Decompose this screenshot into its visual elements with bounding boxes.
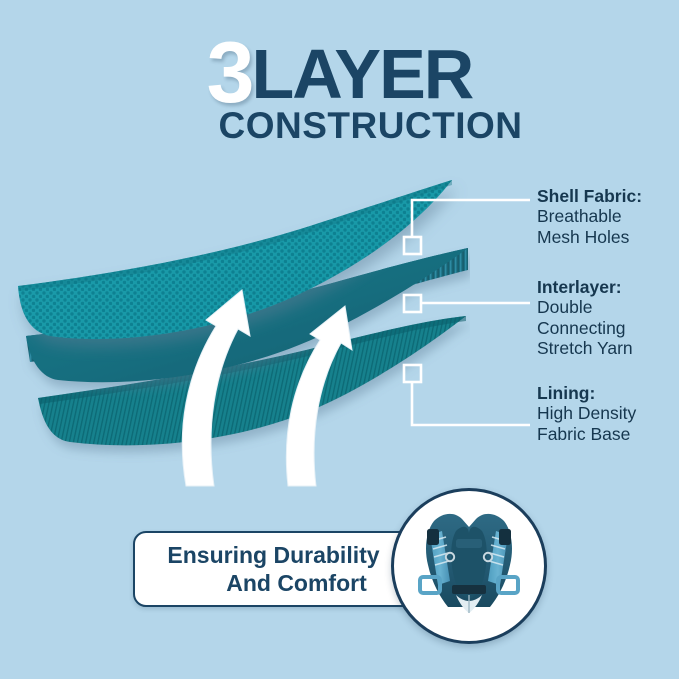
layer-stack-illustration: [0, 130, 470, 490]
product-photo-circle: [391, 488, 547, 644]
dog-harness-icon: [394, 491, 544, 641]
callout-shell-line2: Mesh Holes: [537, 227, 642, 247]
page-title: 3 LAYER CONSTRUCTION: [0, 32, 679, 144]
callout-interlayer: Interlayer: Double Connecting Stretch Ya…: [537, 277, 633, 358]
tagline-line1: Ensuring Durability: [167, 542, 379, 568]
title-main-row: 3 LAYER: [0, 32, 679, 111]
callout-interlayer-line2: Connecting: [537, 318, 633, 338]
callout-interlayer-line3: Stretch Yarn: [537, 338, 633, 358]
callout-shell-line1: Breathable: [537, 206, 642, 226]
callout-shell-fabric: Shell Fabric: Breathable Mesh Holes: [537, 186, 642, 247]
callout-lining: Lining: High Density Fabric Base: [537, 383, 636, 444]
callout-shell-title: Shell Fabric:: [537, 186, 642, 206]
callout-lining-title: Lining:: [537, 383, 636, 403]
tagline-line2: And Comfort: [167, 569, 379, 597]
callout-lining-line2: Fabric Base: [537, 424, 636, 444]
callout-lining-line1: High Density: [537, 403, 636, 423]
tagline-banner: Ensuring Durability And Comfort: [133, 531, 420, 607]
callout-interlayer-line1: Double: [537, 297, 633, 317]
title-word-layer: LAYER: [252, 39, 473, 109]
title-number: 3: [207, 34, 252, 113]
infographic-canvas: 3 LAYER CONSTRUCTION: [0, 0, 679, 679]
callout-interlayer-title: Interlayer:: [537, 277, 633, 297]
tagline-text: Ensuring Durability And Comfort: [167, 541, 385, 597]
